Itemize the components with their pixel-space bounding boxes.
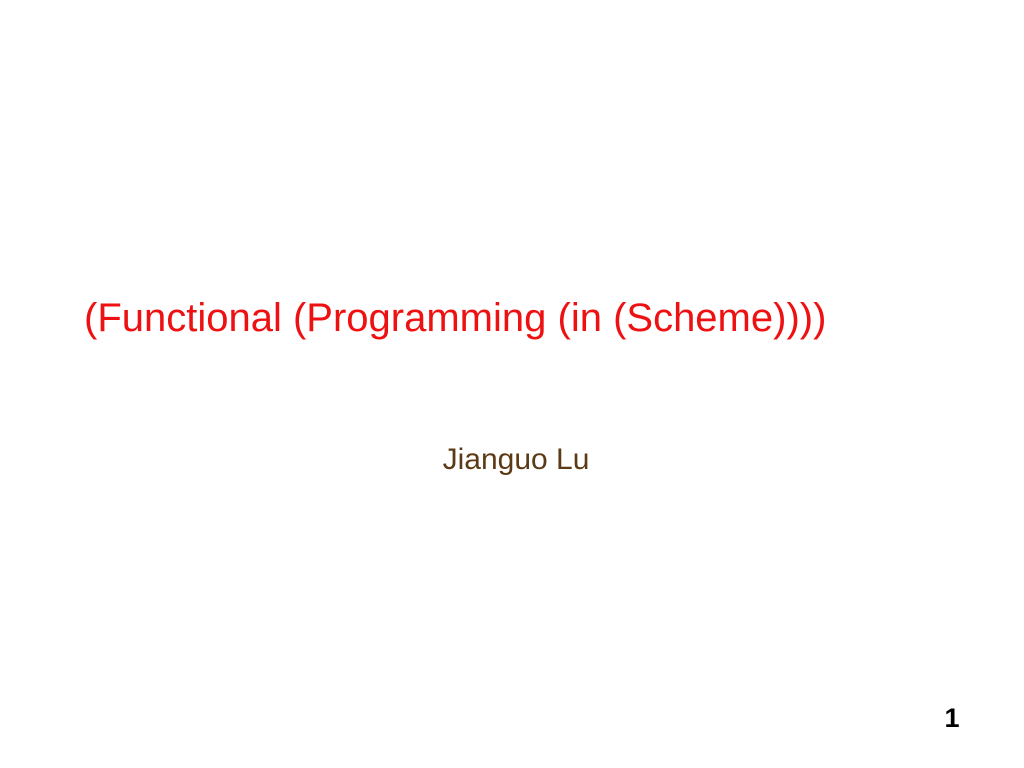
author-block: Jianguo Lu	[0, 442, 1024, 478]
page-title: (Functional (Programming (in (Scheme))))	[84, 294, 944, 342]
slide-canvas: (Functional (Programming (in (Scheme))))…	[0, 0, 1024, 768]
title-block: (Functional (Programming (in (Scheme))))	[84, 294, 944, 342]
slide-page-number: 1	[900, 702, 1004, 734]
author-name: Jianguo Lu	[443, 442, 590, 478]
